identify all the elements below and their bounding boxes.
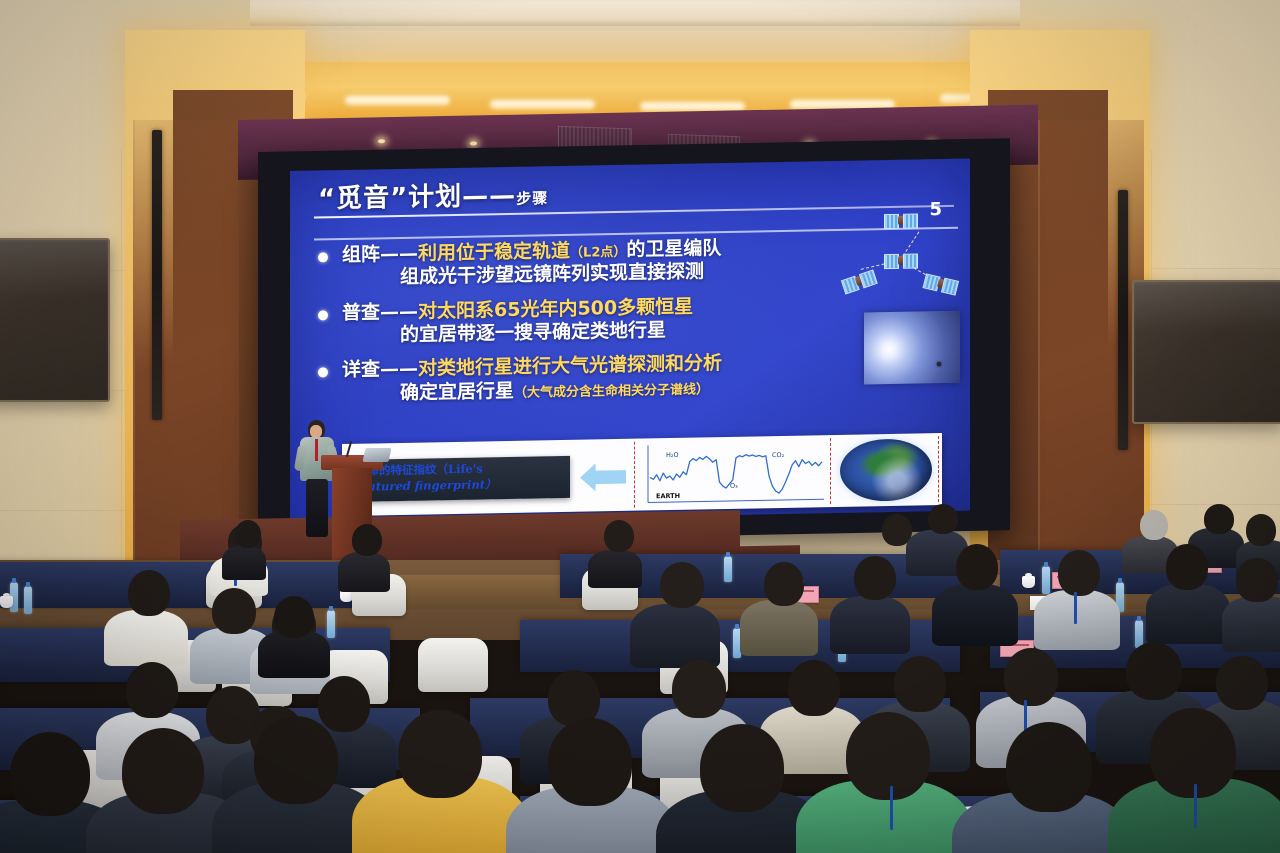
attendee-head [254, 716, 338, 804]
svg-text:H₂O: H₂O [666, 451, 679, 459]
bullet-item-1: 组阵——利用位于稳定轨道（L2点）的卫星编队 组成光干涉望远镜阵列实现直接探测 [316, 234, 876, 291]
bullet-1-line2: 组成光干涉望远镜阵列实现直接探测 [400, 261, 704, 289]
attendee-head [318, 676, 370, 732]
slide-title: “觅音”计划——步骤 [318, 174, 548, 215]
attendee-head [1058, 550, 1100, 596]
attendee-head [1004, 648, 1058, 706]
bullet-1-tail: 的卫星编队 [626, 237, 721, 261]
attendee-body [338, 552, 390, 592]
bullet-2-key: 普查—— [342, 300, 418, 323]
svg-text:O₃: O₃ [730, 482, 738, 490]
bullet-dot-icon [318, 252, 328, 262]
attendee-head [854, 556, 896, 600]
attendee-body [740, 600, 818, 656]
wall-monitor-left [0, 238, 110, 402]
chair [418, 638, 488, 692]
wall-speaker-left [152, 130, 162, 420]
attendee-body [588, 550, 642, 588]
bullet-2-line2: 的宜居带逐一搜寻确定类地行星 [400, 319, 666, 346]
audience-area [0, 500, 1280, 853]
attendee-head [212, 588, 256, 634]
attendee-head [764, 562, 804, 606]
attendee-body [630, 604, 720, 668]
slide-bullet-list: 组阵——利用位于稳定轨道（L2点）的卫星编队 组成光干涉望远镜阵列实现直接探测 … [316, 234, 876, 417]
conference-hall-photo: “觅音”计划——步骤 5 组阵——利用位于稳定轨道（L2点）的卫星编队 组成光干… [0, 0, 1280, 853]
bullet-item-2: 普查——对太阳系65光年内500多颗恒星 的宜居带逐一搜寻确定类地行星 [316, 292, 876, 349]
tea-cup [1022, 576, 1035, 588]
attendee-head [700, 724, 784, 812]
podium-laptop [363, 448, 392, 462]
attendee-body [830, 596, 910, 654]
attendee-head [274, 596, 314, 638]
attendee-head [235, 520, 261, 548]
bullet-3-key: 详查—— [342, 358, 418, 381]
wall-monitor-right [1132, 280, 1280, 424]
satellite-formation-icon [844, 211, 962, 301]
attendee-head [1246, 514, 1276, 546]
attendee-head [10, 732, 90, 816]
water-bottle [327, 610, 335, 638]
callout-line-2: featured fingerprint） [348, 475, 570, 495]
bullet-3-paren: （大气成分含生命相关分子谱线） [514, 382, 709, 401]
attendee-body [1034, 590, 1120, 650]
lanyard [1074, 592, 1077, 624]
attendee-head [1166, 544, 1208, 590]
attendee-body [932, 584, 1018, 646]
lanyard [890, 786, 893, 830]
attendee-head [894, 656, 946, 712]
bullet-item-3: 详查——对类地行星进行大气光谱探测和分析 确定宜居行星（大气成分含生命相关分子谱… [316, 350, 876, 407]
bullet-1-paren: （L2点） [570, 245, 626, 261]
attendee-head [398, 710, 482, 798]
water-bottle [24, 586, 32, 614]
spectrum-svg: H₂O O₃ CO₂ EARTH [638, 439, 826, 506]
attendee-head [1236, 558, 1278, 602]
svg-text:CO₂: CO₂ [772, 451, 785, 459]
attendee-head [352, 524, 382, 556]
attendee-head [660, 562, 704, 608]
attendee-head [672, 660, 726, 718]
attendee-head [126, 662, 178, 718]
attendee-head [928, 504, 958, 534]
ceiling-recess [120, 0, 1160, 26]
attendee-head [846, 712, 930, 800]
attendee-body [1146, 584, 1230, 644]
attendee-head [1006, 722, 1092, 812]
attendee-head [1126, 642, 1182, 700]
slide-title-sub: 步骤 [516, 189, 548, 208]
water-bottle [1042, 566, 1050, 594]
presentation-screen: “觅音”计划——步骤 5 组阵——利用位于稳定轨道（L2点）的卫星编队 组成光干… [290, 159, 970, 523]
tea-cup [0, 596, 13, 608]
bullet-dot-icon [318, 310, 328, 320]
water-bottle [724, 556, 732, 582]
bullet-1-rest: 利用位于稳定轨道 [418, 240, 570, 265]
attendee-head [1140, 510, 1168, 540]
attendee-body [104, 610, 188, 666]
earth-globe-image [840, 438, 932, 502]
star-with-exoplanet-image [864, 311, 960, 385]
bullet-dot-icon [318, 368, 328, 378]
attendee-head [604, 520, 634, 552]
slide-title-main: “觅音”计划—— [318, 181, 516, 215]
attendee-head [788, 660, 840, 716]
attendee-body [222, 546, 266, 580]
attendee-head [128, 570, 170, 616]
presenter-lanyard [315, 439, 318, 461]
attendee-head [122, 728, 204, 814]
left-arrow-icon [580, 463, 626, 492]
bullet-3-line2: 确定宜居行星 [400, 380, 514, 404]
bullet-1-key: 组阵—— [342, 243, 418, 266]
attendee-head [956, 544, 998, 590]
attendee-head [1216, 656, 1268, 710]
earth-spectrum-chart: H₂O O₃ CO₂ EARTH [638, 439, 826, 506]
attendee-head [548, 718, 632, 806]
attendee-head [1150, 708, 1236, 798]
attendee-body [1222, 596, 1280, 652]
attendee-head [1204, 504, 1234, 534]
wall-speaker-right [1118, 190, 1128, 450]
lanyard [1194, 784, 1197, 828]
